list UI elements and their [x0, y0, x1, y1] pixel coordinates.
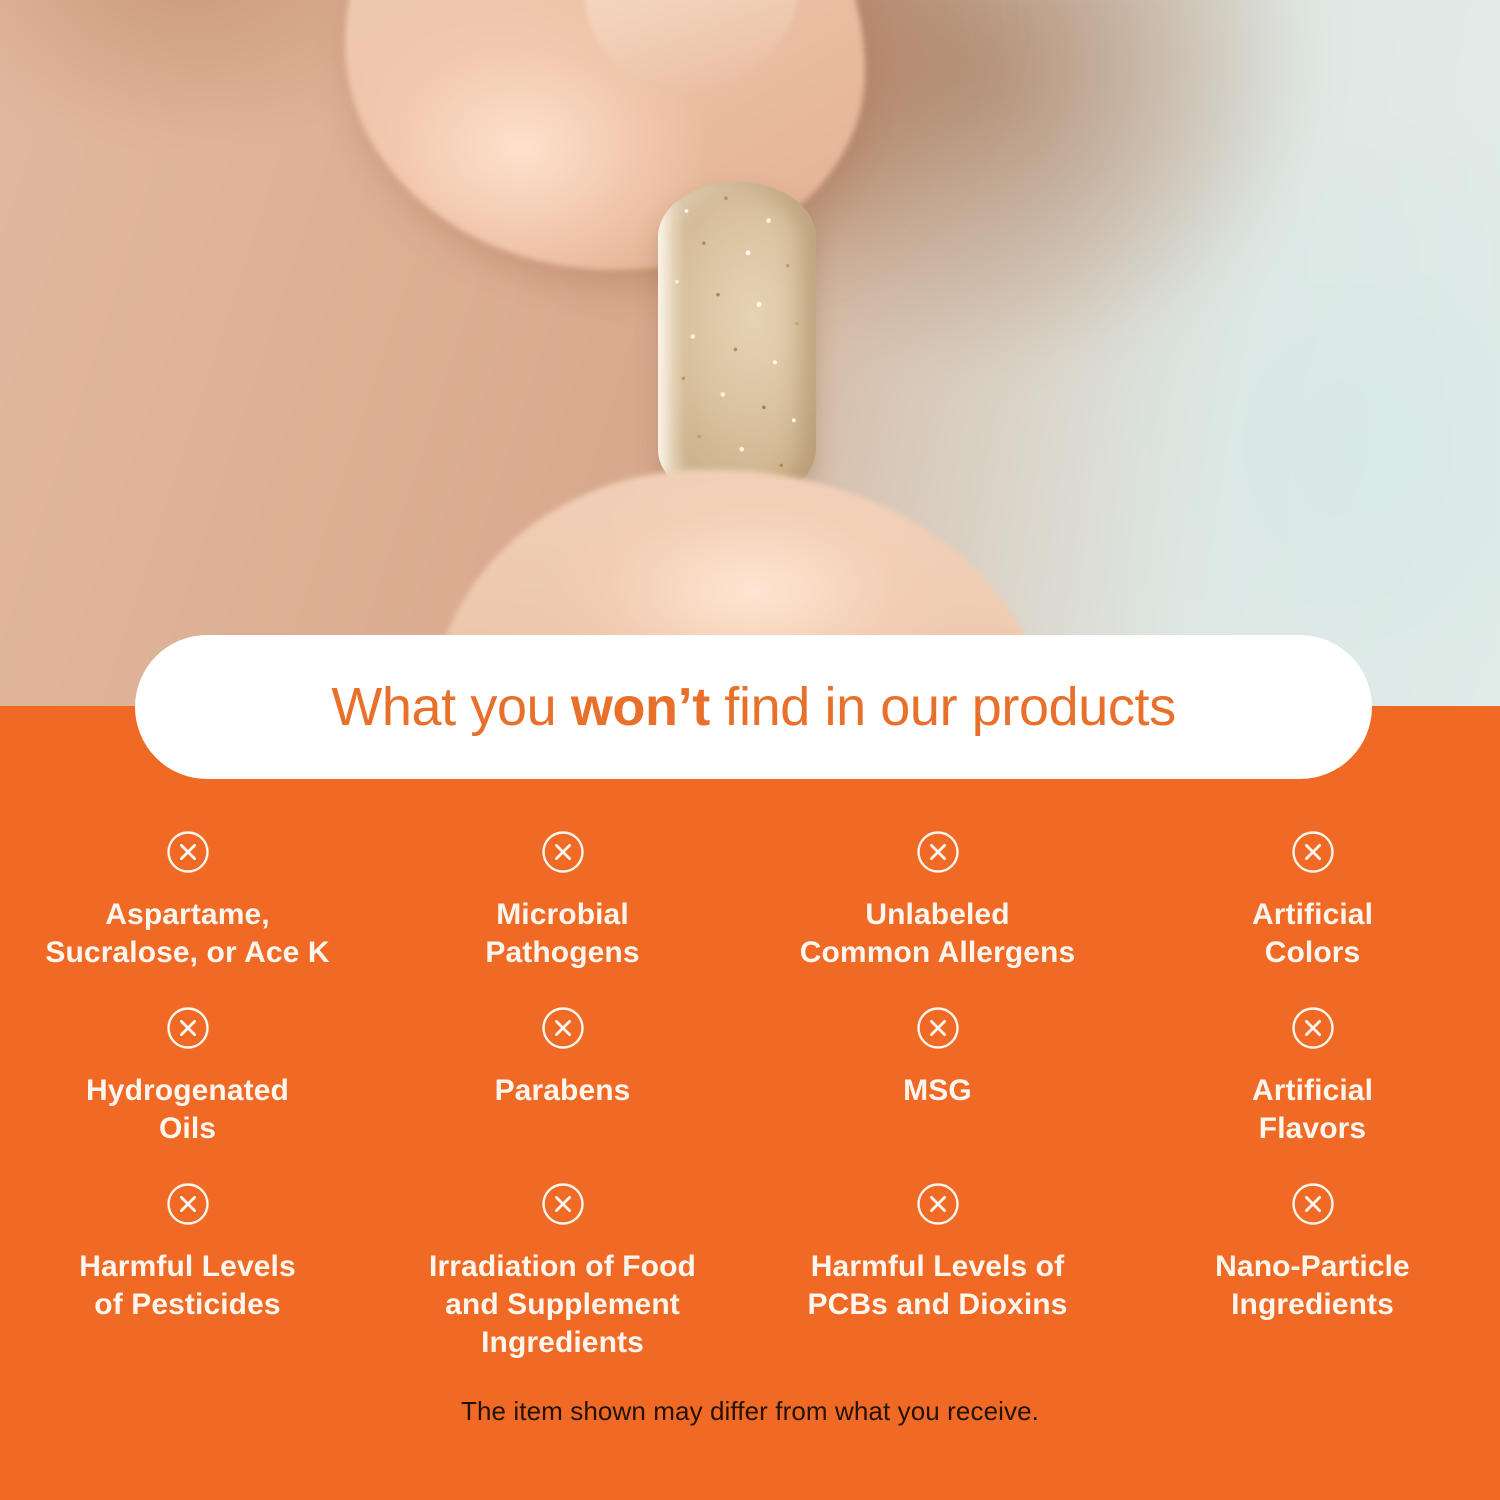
circle-x-icon [166, 1006, 210, 1050]
title-card: What you won’t find in our products [135, 635, 1372, 779]
disclaimer-text: The item shown may differ from what you … [0, 1396, 1500, 1427]
excluded-item-label: Harmful Levelsof Pesticides [79, 1248, 295, 1324]
excluded-item: UnlabeledCommon Allergens [750, 812, 1125, 988]
circle-x-icon [166, 830, 210, 874]
excluded-item-label: HydrogenatedOils [86, 1072, 289, 1148]
tablet-highlight-edge [658, 188, 684, 497]
excluded-ingredients-grid: Aspartame,Sucralose, or Ace KMicrobialPa… [0, 812, 1500, 1354]
excluded-item: ArtificialFlavors [1125, 988, 1500, 1164]
page-title: What you won’t find in our products [331, 676, 1175, 738]
title-prefix: What you [331, 677, 571, 737]
excluded-item: Irradiation of Foodand SupplementIngredi… [375, 1164, 750, 1354]
excluded-item: Nano-ParticleIngredients [1125, 1164, 1500, 1354]
circle-x-icon [916, 1006, 960, 1050]
excluded-item-label: Harmful Levels ofPCBs and Dioxins [808, 1248, 1068, 1324]
excluded-item-label: Parabens [495, 1072, 631, 1110]
excluded-item-label: MicrobialPathogens [485, 896, 639, 972]
excluded-item-label: MSG [903, 1072, 972, 1110]
product-claims-infographic: What you won’t find in our products Aspa… [0, 0, 1500, 1500]
excluded-item: Aspartame,Sucralose, or Ace K [0, 812, 375, 988]
excluded-item: HydrogenatedOils [0, 988, 375, 1164]
excluded-item: Harmful Levels ofPCBs and Dioxins [750, 1164, 1125, 1354]
circle-x-icon [916, 830, 960, 874]
circle-x-icon [541, 830, 585, 874]
product-photo [0, 0, 1500, 706]
circle-x-icon [1291, 1182, 1335, 1226]
excluded-item-label: Irradiation of Foodand SupplementIngredi… [429, 1248, 696, 1361]
excluded-item-label: UnlabeledCommon Allergens [800, 896, 1076, 972]
circle-x-icon [541, 1006, 585, 1050]
excluded-item: ArtificialColors [1125, 812, 1500, 988]
title-suffix: find in our products [710, 677, 1176, 737]
excluded-item-label: Nano-ParticleIngredients [1215, 1248, 1410, 1324]
circle-x-icon [166, 1182, 210, 1226]
circle-x-icon [541, 1182, 585, 1226]
title-emphasis: won’t [571, 677, 710, 737]
excluded-item: Harmful Levelsof Pesticides [0, 1164, 375, 1354]
supplement-tablet [658, 182, 816, 504]
excluded-item: MicrobialPathogens [375, 812, 750, 988]
circle-x-icon [1291, 830, 1335, 874]
circle-x-icon [1291, 1006, 1335, 1050]
excluded-item-label: Aspartame,Sucralose, or Ace K [45, 896, 329, 972]
excluded-item-label: ArtificialColors [1252, 896, 1373, 972]
excluded-item: Parabens [375, 988, 750, 1164]
circle-x-icon [916, 1182, 960, 1226]
excluded-item: MSG [750, 988, 1125, 1164]
excluded-item-label: ArtificialFlavors [1252, 1072, 1373, 1148]
